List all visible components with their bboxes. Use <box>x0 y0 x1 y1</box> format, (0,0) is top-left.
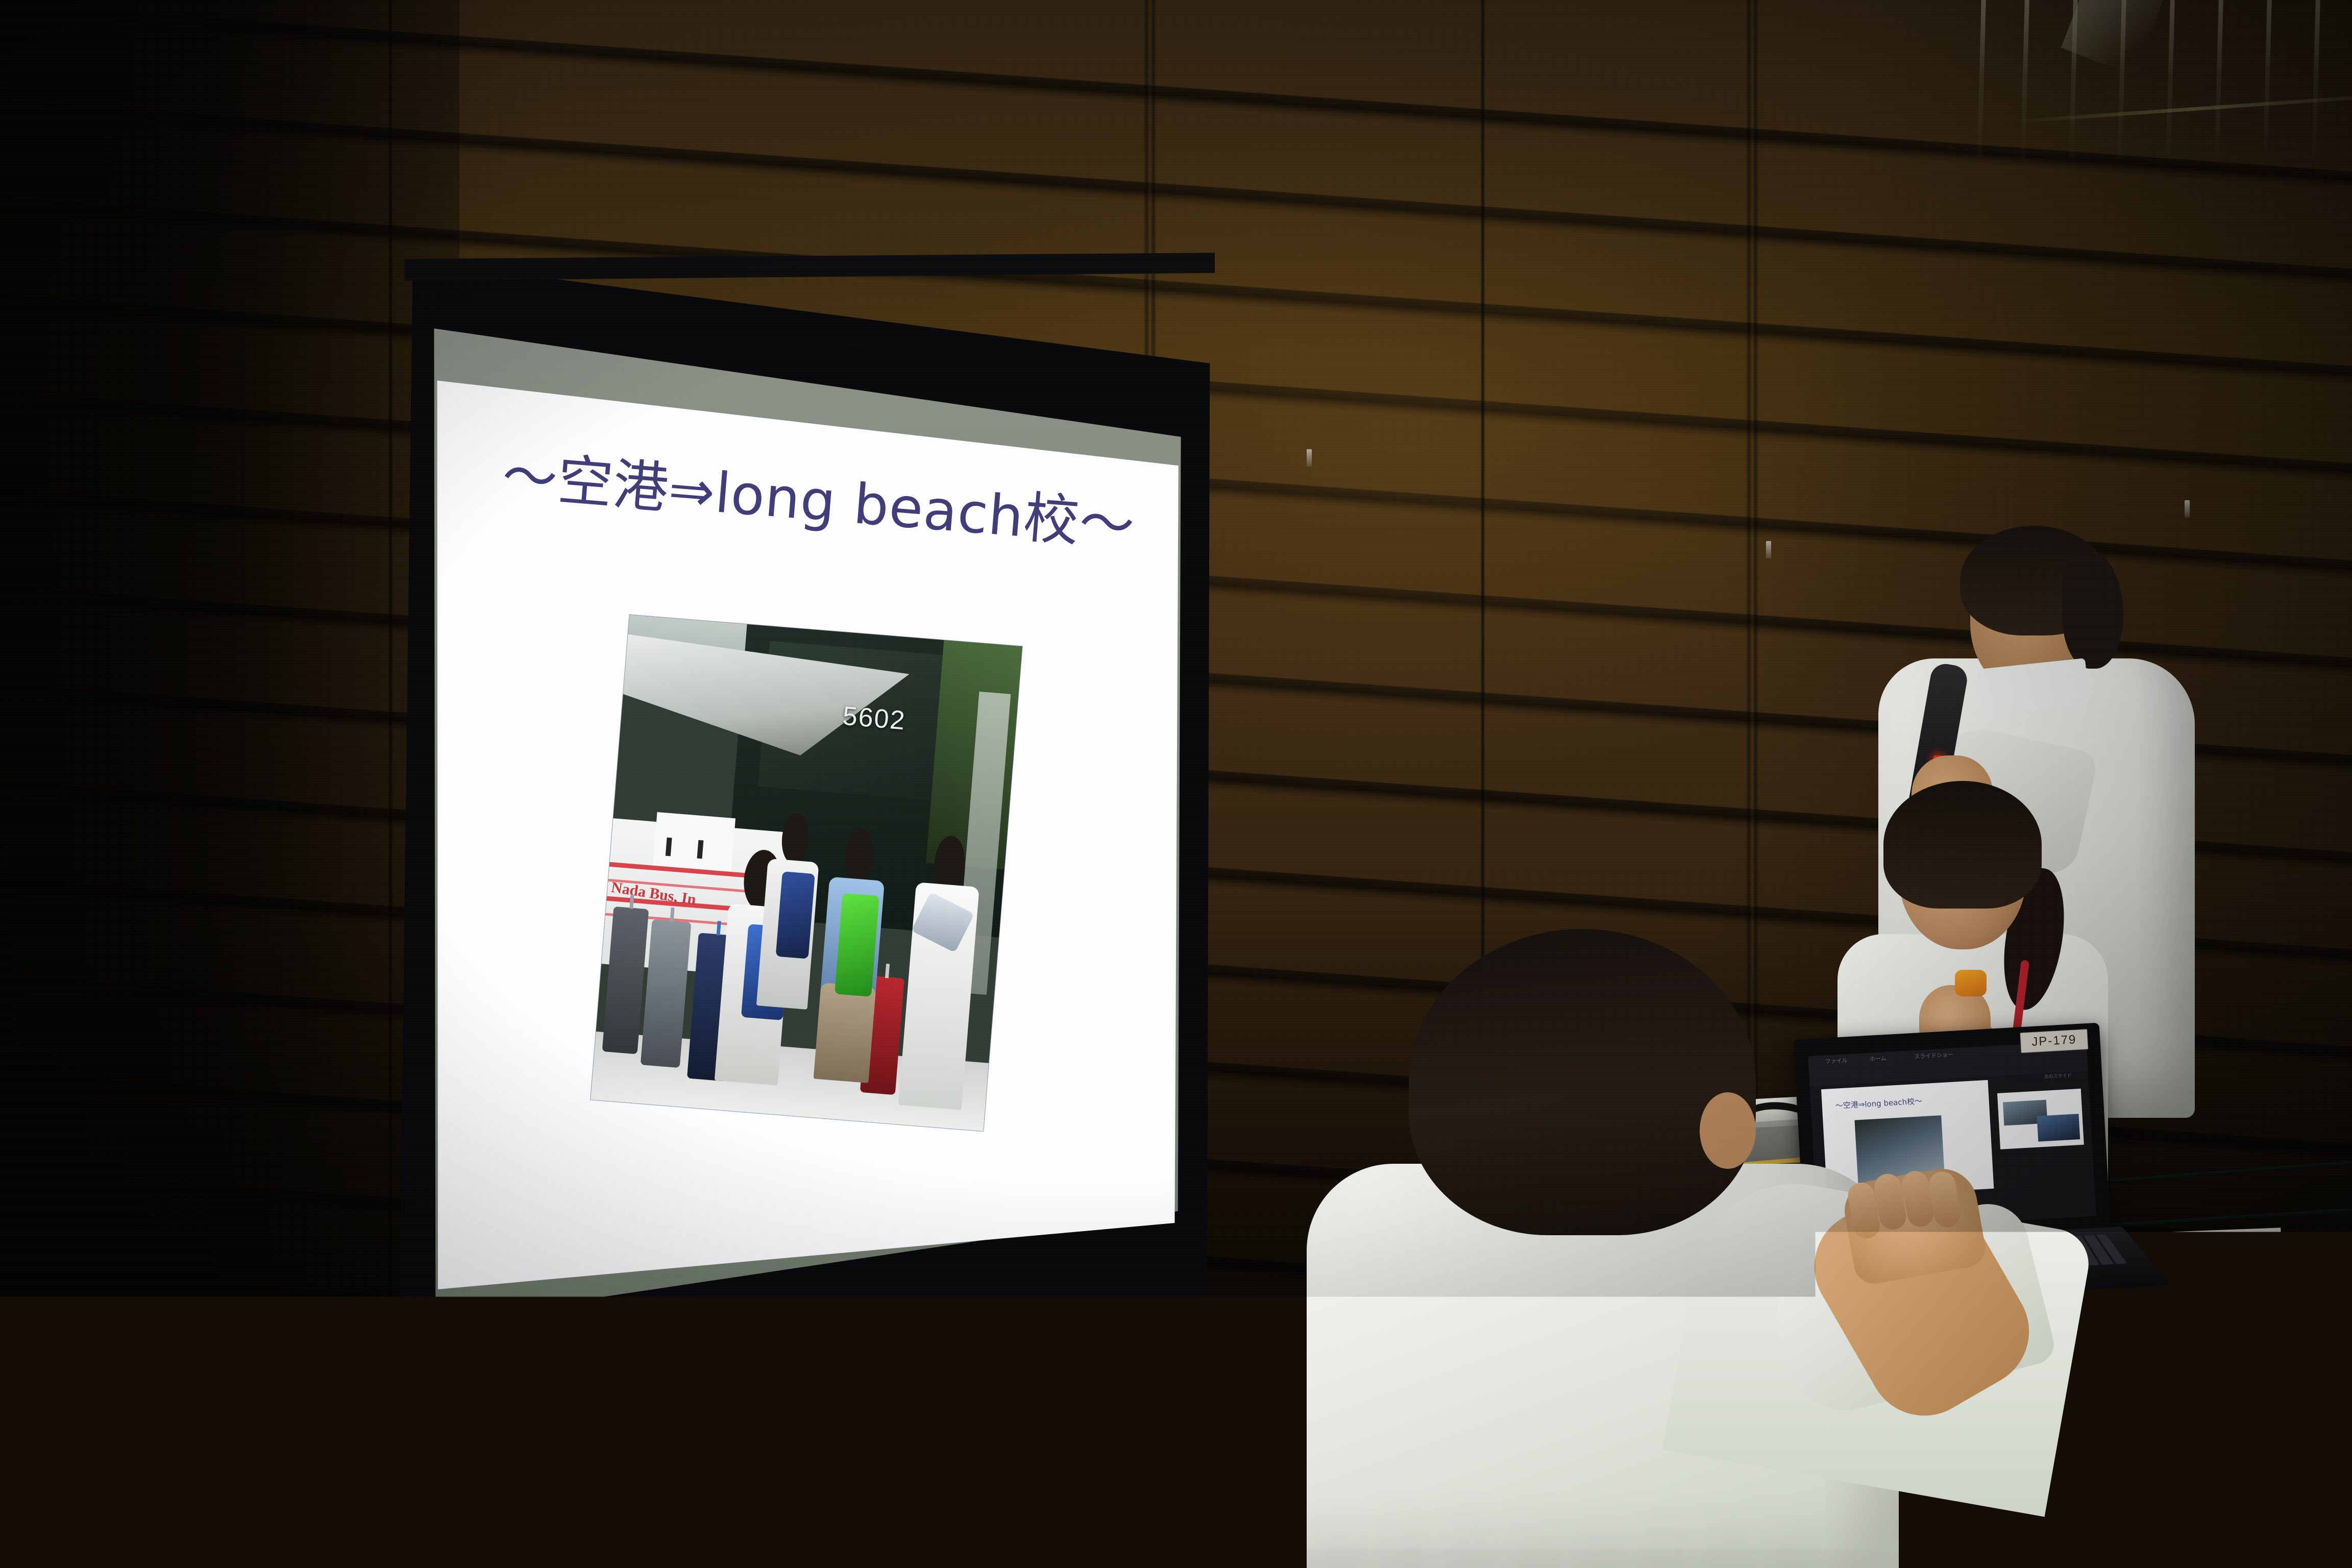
wall-clip-icon <box>1307 449 1312 467</box>
held-object <box>1955 970 1987 996</box>
screen-top-roller <box>404 253 1215 281</box>
photo-bus-number: 5602 <box>841 700 906 736</box>
projector-screen: 〜空港⇒long beach校〜 5602 <box>388 250 1215 1567</box>
operator-hair <box>1409 929 1756 1235</box>
presenter-next-slide[interactable] <box>1997 1089 2084 1149</box>
balcony-railing <box>1974 0 2352 168</box>
next-slide-photo-b <box>2037 1114 2080 1142</box>
wall-clip-icon <box>1766 541 1771 558</box>
slide-photo: 5602 Nada Bus, In <box>590 615 1022 1131</box>
menu-item-slideshow[interactable]: スライドショー <box>1914 1050 1954 1061</box>
next-slide-label: 次のスライド <box>2044 1072 2072 1080</box>
presenter-slide-title: 〜空港⇒long beach校〜 <box>1835 1095 1922 1111</box>
operator-ear <box>1700 1092 1756 1169</box>
laptop-asset-sticker: JP-179 <box>2020 1029 2088 1053</box>
menu-item-file[interactable]: ファイル <box>1825 1057 1848 1066</box>
photo-scene: 〜空港⇒long beach校〜 5602 <box>0 0 2352 1568</box>
seated-woman-hair <box>1883 781 2042 909</box>
menu-item-home[interactable]: ホーム <box>1869 1054 1886 1063</box>
projected-slide: 〜空港⇒long beach校〜 5602 <box>434 358 1179 1293</box>
wall-clip-icon <box>2185 500 2190 518</box>
